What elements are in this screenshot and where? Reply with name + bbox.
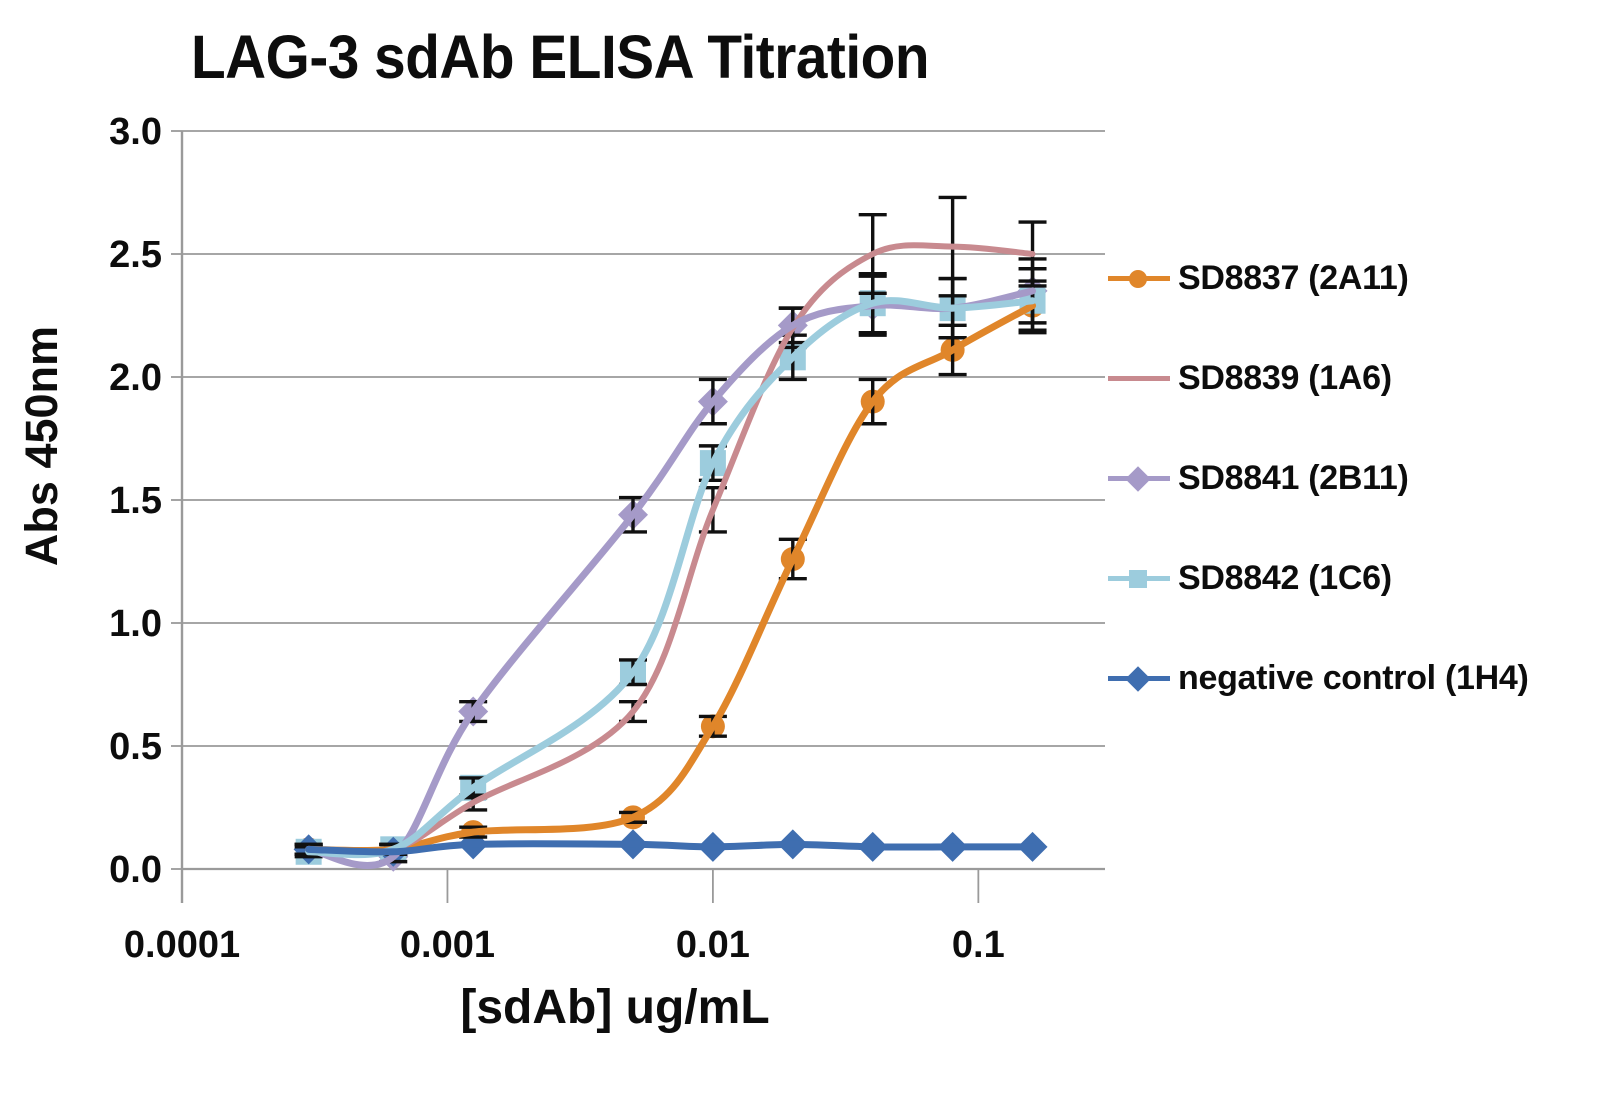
legend-label: negative control (1H4) (1170, 659, 1528, 698)
legend-line-swatch (1108, 376, 1170, 381)
legend-item-sd8842[interactable]: SD8842 (1C6) (1108, 528, 1623, 628)
y-tick-label: 1.0 (109, 603, 162, 645)
y-axis-title: Abs 450nm (16, 296, 68, 596)
legend-item-sd8839[interactable]: SD8839 (1A6) (1108, 328, 1623, 428)
diamond-marker-icon (1125, 466, 1150, 491)
legend-label: SD8837 (2A11) (1170, 259, 1408, 298)
chart-figure: LAG-3 sdAb ELISA Titration 0.00.51.01.52… (0, 0, 1623, 1100)
legend-label: SD8842 (1C6) (1170, 559, 1392, 598)
x-tick-label: 0.1 (952, 924, 1005, 966)
legend-label: SD8841 (2B11) (1170, 459, 1408, 498)
square-marker-icon (1129, 570, 1147, 588)
legend-key-icon (1108, 463, 1170, 493)
y-tick-label: 3.0 (109, 111, 162, 153)
circle-marker-icon (1129, 270, 1147, 288)
legend-key-icon (1108, 563, 1170, 593)
x-tick-label: 0.001 (400, 924, 495, 966)
y-tick-label: 0.5 (109, 726, 162, 768)
legend-label: SD8839 (1A6) (1170, 359, 1392, 398)
legend-item-sd8841[interactable]: SD8841 (2B11) (1108, 428, 1623, 528)
y-tick-label: 2.0 (109, 357, 162, 399)
x-tick-label: 0.01 (676, 924, 750, 966)
y-tick-label: 1.5 (109, 480, 162, 522)
error-bar-layer (295, 197, 1047, 861)
y-tick-label: 0.0 (109, 849, 162, 891)
series-line-4 (309, 301, 1033, 855)
legend-item-negative-control[interactable]: negative control (1H4) (1108, 628, 1623, 728)
legend-key-icon (1108, 663, 1170, 693)
chart-legend: SD8837 (2A11) SD8839 (1A6) SD8841 (2B11)… (1108, 228, 1623, 728)
x-tick-label: 0.0001 (124, 924, 240, 966)
diamond-marker-icon (1125, 666, 1150, 691)
series-line-1 (309, 306, 1033, 851)
marker-layer (294, 276, 1048, 872)
legend-item-sd8837[interactable]: SD8837 (2A11) (1108, 228, 1623, 328)
x-axis-title: [sdAb] ug/mL (120, 980, 1110, 1035)
y-tick-label: 2.5 (109, 234, 162, 276)
legend-key-icon (1108, 363, 1170, 393)
legend-key-icon (1108, 263, 1170, 293)
series-line-2 (309, 245, 1033, 853)
